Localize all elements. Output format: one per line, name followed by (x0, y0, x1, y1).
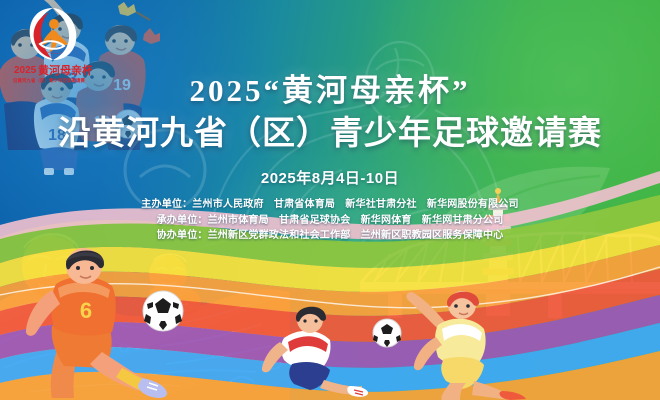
logo-emblem-icon (26, 6, 80, 62)
organizer-names: 兰州新区党群政法和社会工作部 兰州新区职教园区服务保障中心 (208, 230, 504, 241)
organizer-row: 协办单位：兰州新区党群政法和社会工作部 兰州新区职教园区服务保障中心 (0, 228, 660, 244)
event-date: 2025年8月4日-10日 (0, 167, 660, 188)
organizer-role: 承办单位： (157, 215, 208, 226)
organizer-names: 兰州市人民政府 甘肃省体育局 新华社甘肃分社 新华网股份有限公司 (192, 199, 518, 210)
organizer-role: 协办单位： (157, 230, 208, 241)
player-mid-white (258, 300, 378, 400)
jersey-number-6: 6 (80, 298, 92, 323)
player-kick-yellow (398, 285, 528, 400)
soccer-ball-left (142, 290, 184, 332)
organizer-row: 承办单位：兰州市体育局 甘肃省足球协会 新华网体育 新华网甘肃分公司 (0, 213, 660, 229)
organizer-list: 主办单位：兰州市人民政府 甘肃省体育局 新华社甘肃分社 新华网股份有限公司 承办… (0, 197, 660, 244)
poster-title-line2: 沿黄河九省（区）青少年足球邀请赛 (0, 112, 660, 154)
poster-title-line1: 2025“黄河母亲杯” (0, 72, 660, 110)
organizer-role: 主办单位： (141, 199, 192, 210)
event-poster: 6 (0, 0, 660, 400)
organizer-row: 主办单位：兰州市人民政府 甘肃省体育局 新华社甘肃分社 新华网股份有限公司 (0, 197, 660, 213)
poster-text-block: 2025“黄河母亲杯” 沿黄河九省（区）青少年足球邀请赛 2025年8月4日-1… (0, 72, 660, 244)
organizer-names: 兰州市体育局 甘肃省足球协会 新华网体育 新华网甘肃分公司 (208, 215, 504, 226)
